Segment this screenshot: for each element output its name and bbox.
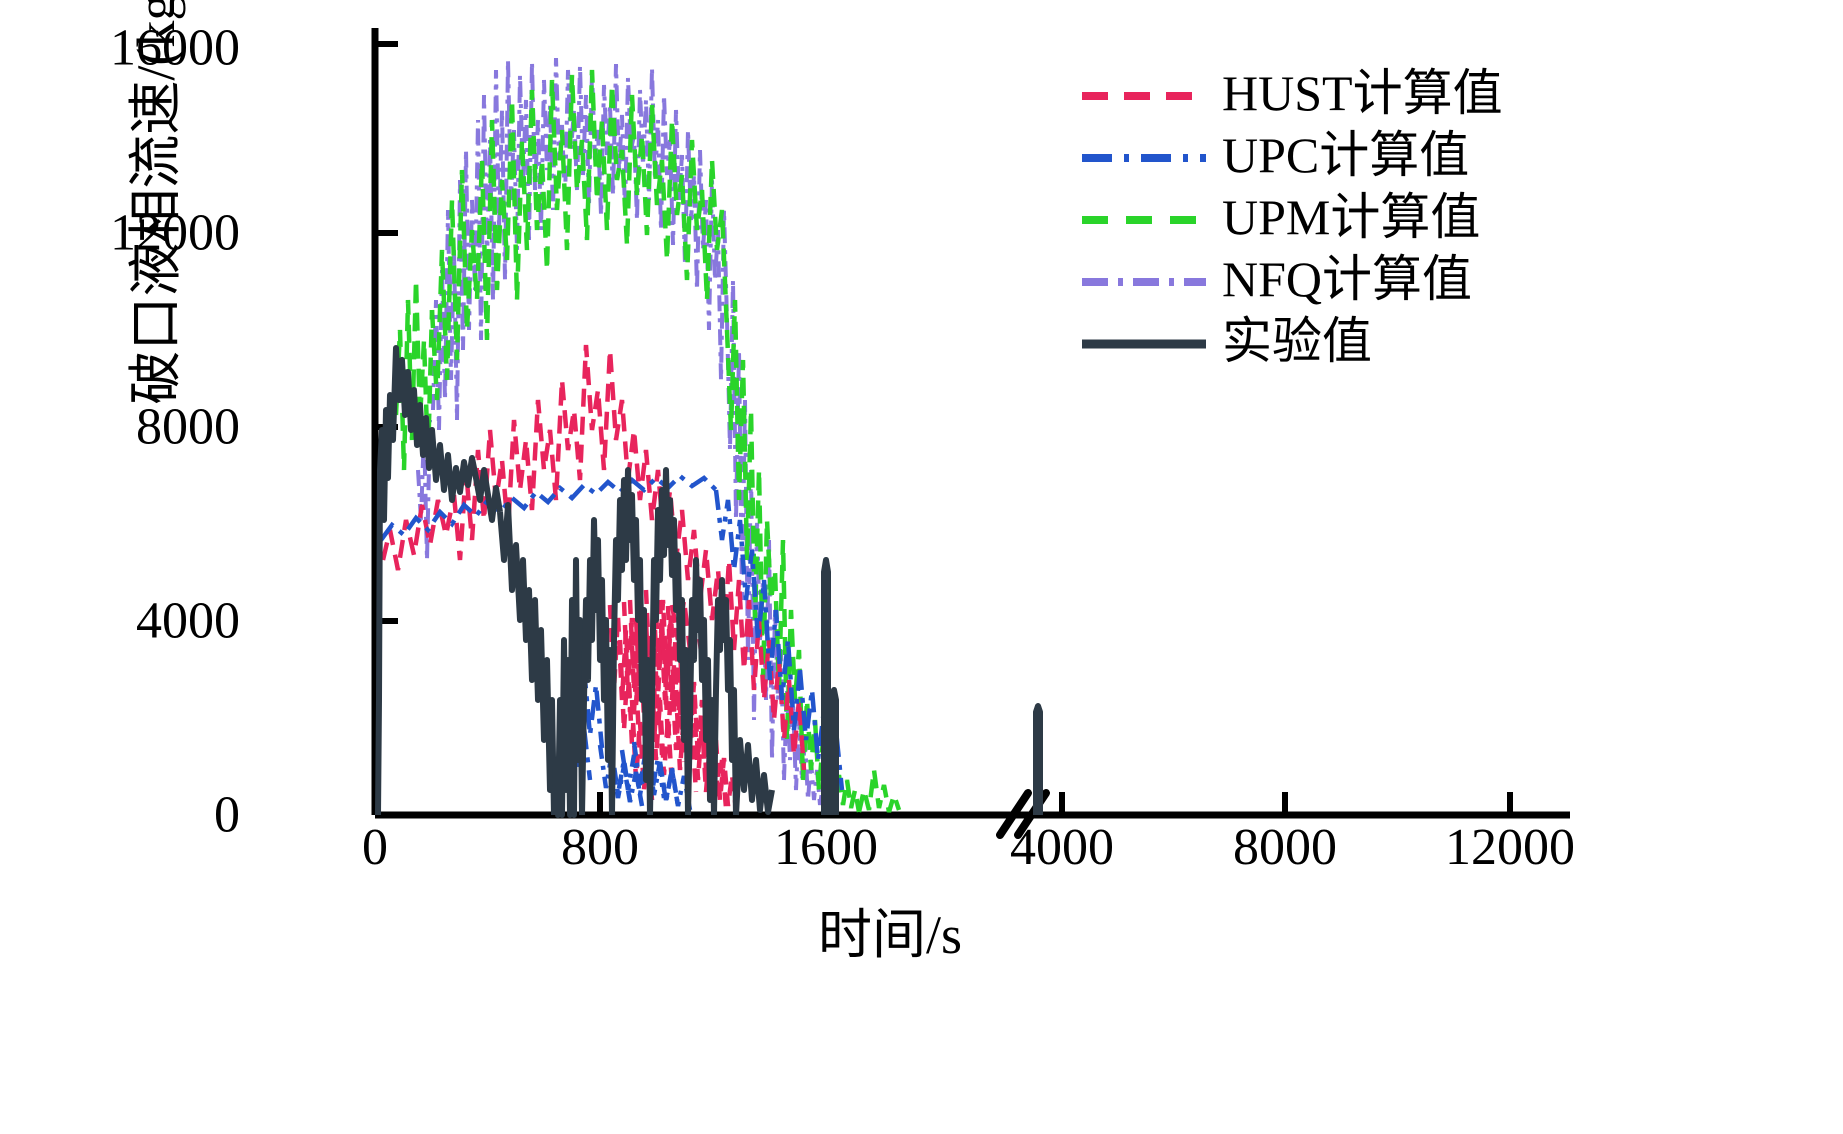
legend-key-nfq-dashdot-line — [1080, 275, 1208, 283]
legend-label-experiment: 实验值 — [1222, 316, 1372, 366]
series-experiment — [378, 348, 1040, 815]
legend-item-nfq[interactable]: NFQ计算值 — [1080, 248, 1600, 310]
legend-key-experiment-solid-line — [1080, 337, 1208, 345]
legend-label-upc: UPC计算值 — [1222, 130, 1469, 180]
legend-item-upc[interactable]: UPC计算值 — [1080, 124, 1600, 186]
legend-label-nfq: NFQ计算值 — [1222, 254, 1472, 304]
legend-item-upm[interactable]: UPM计算值 — [1080, 186, 1600, 248]
legend-item-experiment[interactable]: 实验值 — [1080, 310, 1600, 372]
chart-canvas: 破口液相流速/(kg · h-1) 0 4000 8000 12000 1600… — [0, 0, 1843, 1134]
legend-key-upc-dashdot-line — [1080, 151, 1208, 159]
legend: HUST计算值 UPC计算值 UPM计算值 — [1080, 62, 1600, 372]
legend-item-hust[interactable]: HUST计算值 — [1080, 62, 1600, 124]
legend-key-hust-dashed-line — [1080, 89, 1208, 97]
legend-label-hust: HUST计算值 — [1222, 68, 1503, 118]
legend-key-upm-dashed-line — [1080, 213, 1208, 221]
legend-label-upm: UPM计算值 — [1222, 192, 1480, 242]
